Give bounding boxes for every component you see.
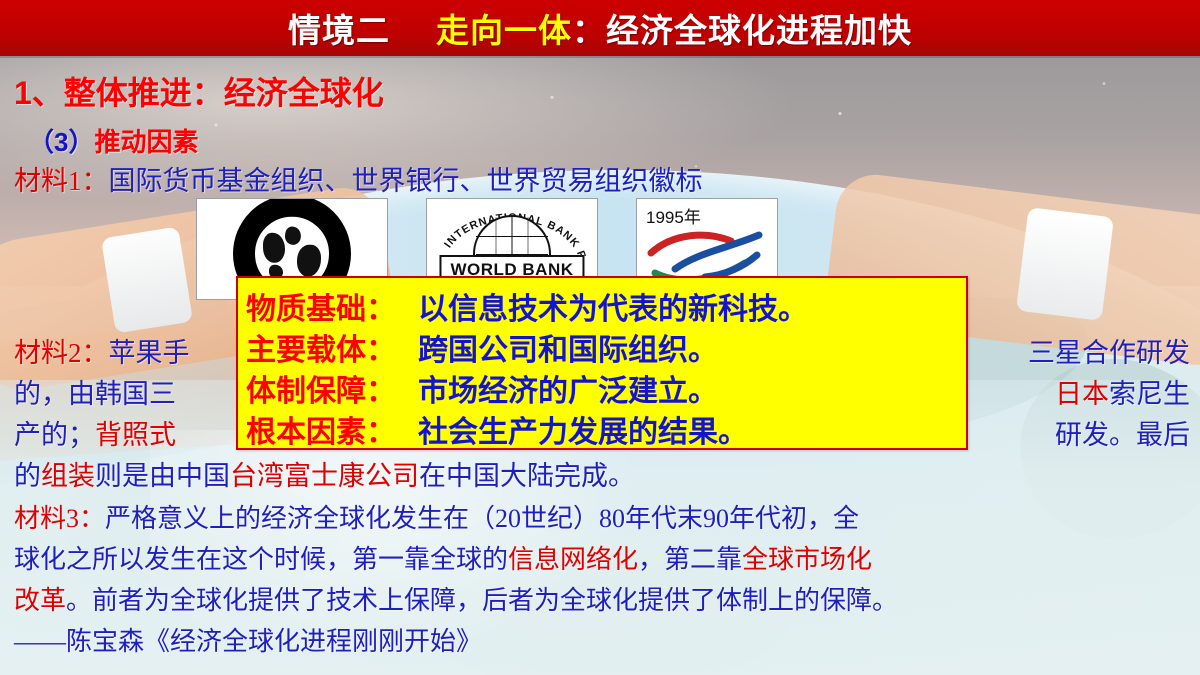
callout-row: 主要载体： 跨国公司和国际组织。 (246, 325, 966, 366)
material-3-red-2: 全球市场化 (742, 545, 872, 574)
imf-continent (284, 225, 303, 246)
material-3-label: 材料3： (14, 504, 105, 533)
material-2-line3-red: 背照式 (95, 420, 176, 450)
imf-continent (263, 233, 285, 263)
material-2-line-3: 产的；背照式 (14, 422, 176, 450)
callout-row: 物质基础： 以信息技术为代表的新科技。 (246, 284, 966, 325)
material-2-fragment-right-3: 研发。最后 (1055, 422, 1190, 450)
material-3-red-1: 信息网络化 (508, 545, 638, 574)
title-rest: 经济全球化进程加快 (606, 12, 912, 49)
callout-value: 社会生产力发展的结果。 (418, 407, 748, 451)
summary-callout-box: 物质基础： 以信息技术为代表的新科技。 主要载体： 跨国公司和国际组织。 体制保… (236, 276, 968, 450)
subsection-number: （3） (28, 127, 94, 157)
title-situation: 情境二 (288, 12, 390, 49)
material-2-line4-red1: 组装 (41, 461, 95, 491)
material-2-fragment-right-2: 日本索尼生 (1055, 381, 1190, 409)
callout-row: 体制保障： 市场经济的广泛建立。 (246, 366, 966, 407)
handshake-left-cuff (101, 226, 193, 333)
subsection-heading: （3）推动因素 (28, 122, 198, 159)
slide-title: 情境二走向一体：经济全球化进程加快 (288, 4, 912, 52)
material-2-fragment-right-1: 三星合作研发 (1028, 340, 1190, 368)
slide-title-bar: 情境二走向一体：经济全球化进程加快 (0, 0, 1200, 56)
material-2-line4b: 则是由中国 (95, 461, 230, 491)
material-3-text-1: 严格意义上的经济全球化发生在（20世纪）80年代末90年代初，全 (105, 504, 859, 533)
material-3-text-3: 。前者为全球化提供了技术上保障，后者为全球化提供了体制上的保障。 (66, 586, 898, 615)
material-3-source: ——陈宝森《经济全球化进程刚刚开始》 (14, 629, 482, 656)
callout-key: 根本因素： (246, 407, 418, 451)
material-2-line-4: 的组装则是由中国台湾富士康公司在中国大陆完成。 (14, 463, 635, 491)
material-3-line-1: 材料3：严格意义上的经济全球化发生在（20世纪）80年代末90年代初，全 (14, 506, 859, 533)
callout-value: 市场经济的广泛建立。 (418, 366, 718, 410)
title-highlight: 走向一体 (436, 12, 572, 49)
material-2-line4c: 在中国大陆完成。 (419, 461, 635, 491)
material-2-line4-red2: 台湾富士康公司 (230, 461, 419, 491)
material-3-text-2b: ，第二靠 (638, 545, 742, 574)
callout-key: 主要载体： (246, 325, 418, 369)
imf-continent (297, 245, 321, 277)
material-3-text-2a: 球化之所以发生在这个时候，第一靠全球的 (14, 545, 508, 574)
material-3-line-3: 改革。前者为全球化提供了技术上保障，后者为全球化提供了体制上的保障。 (14, 588, 898, 615)
material-1-text: 国际货币基金组织、世界银行、世界贸易组织徽标 (109, 166, 703, 196)
material-2-line-2: 的，由韩国三 (14, 381, 176, 409)
slide-canvas: 情境二走向一体：经济全球化进程加快 1、整体推进：经济全球化 （3）推动因素 材… (0, 0, 1200, 675)
material-2-fragment-rest: 索尼生 (1109, 379, 1190, 409)
title-separator: ： (572, 12, 606, 49)
page-title: 1、整体推进：经济全球化 (14, 68, 384, 114)
material-2-line1a: 苹果手 (109, 338, 190, 368)
material-1-line: 材料1：国际货币基金组织、世界银行、世界贸易组织徽标 (14, 168, 703, 196)
callout-row: 根本因素： 社会生产力发展的结果。 (246, 407, 966, 448)
handshake-right-cuff (1016, 207, 1114, 321)
material-2-line2a: 的，由韩国三 (14, 379, 176, 409)
callout-value: 以信息技术为代表的新科技。 (418, 284, 808, 328)
subsection-label: 推动因素 (94, 127, 198, 157)
material-2-fragment-red: 日本 (1055, 379, 1109, 409)
material-2-label: 材料2： (14, 338, 109, 368)
callout-key: 体制保障： (246, 366, 418, 410)
material-3-line-2: 球化之所以发生在这个时候，第一靠全球的信息网络化，第二靠全球市场化 (14, 547, 872, 574)
material-3-red-3: 改革 (14, 586, 66, 615)
material-2-line3a: 产的； (14, 420, 95, 450)
callout-key: 物质基础： (246, 284, 418, 328)
callout-value: 跨国公司和国际组织。 (418, 325, 718, 369)
material-1-label: 材料1： (14, 166, 109, 196)
material-2-line-1: 材料2：苹果手 (14, 340, 190, 368)
material-2-line4a: 的 (14, 461, 41, 491)
